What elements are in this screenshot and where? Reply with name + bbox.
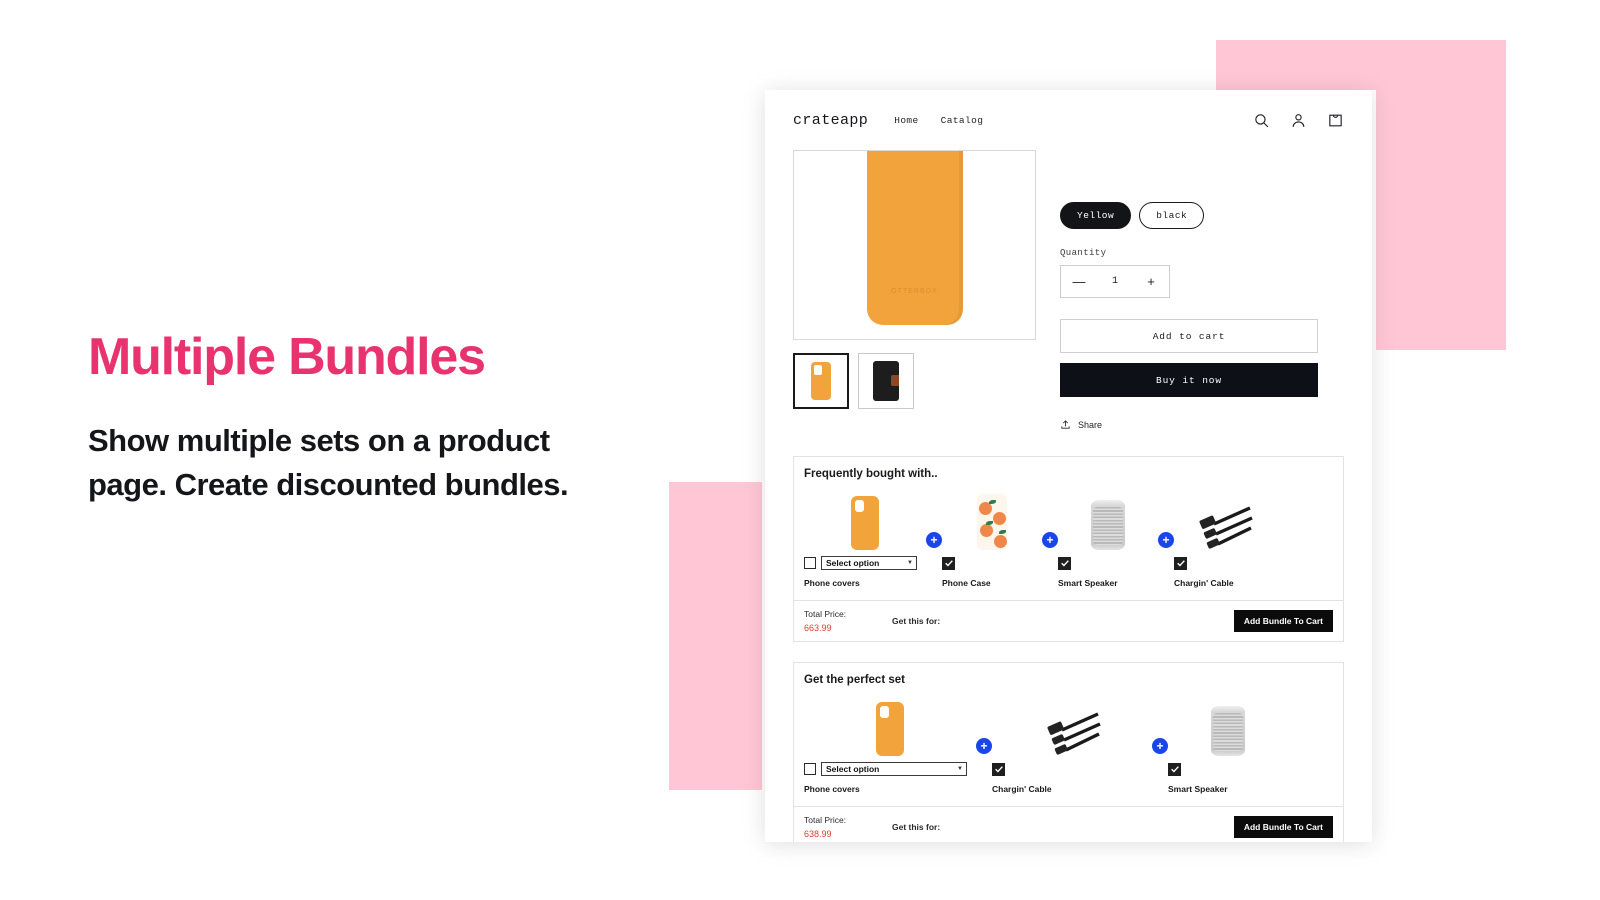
folio-tab bbox=[891, 375, 899, 386]
share-icon bbox=[1060, 419, 1071, 430]
bundle-1-item-1-image[interactable] bbox=[804, 492, 926, 550]
bundle-1-item-4-checkbox[interactable] bbox=[1174, 557, 1187, 570]
check-icon bbox=[1060, 558, 1070, 568]
bundle-1-plus-2: + bbox=[1042, 532, 1058, 588]
check-icon bbox=[1176, 558, 1186, 568]
patterned-case-art bbox=[977, 494, 1007, 550]
bundle-1-item-2-name: Phone Case bbox=[942, 578, 991, 588]
bundle-1-total-value: 663.99 bbox=[804, 623, 892, 633]
bundle-1-item-4-controls bbox=[1174, 555, 1187, 571]
product-main-image[interactable]: OTTERBOX bbox=[793, 150, 1036, 340]
thumbnail-2[interactable] bbox=[858, 353, 914, 409]
bundle-1-item-1-name: Phone covers bbox=[804, 578, 860, 588]
bundle-1-add-button[interactable]: Add Bundle To Cart bbox=[1234, 610, 1333, 632]
camera-cutout bbox=[814, 365, 822, 375]
bundle-2-item-2-name: Chargin' Cable bbox=[992, 784, 1052, 794]
plus-icon[interactable]: + bbox=[976, 738, 992, 754]
bundle-2-item-1-select[interactable]: Select option ▼ bbox=[821, 762, 967, 776]
account-icon[interactable] bbox=[1290, 112, 1307, 129]
check-icon bbox=[1170, 764, 1180, 774]
bundle-2-item-3-controls bbox=[1168, 761, 1181, 777]
search-icon[interactable] bbox=[1253, 112, 1270, 129]
bundle-1-item-2: Phone Case bbox=[942, 492, 1042, 588]
bundle-1-plus-3: + bbox=[1158, 532, 1174, 588]
nav-item-catalog[interactable]: Catalog bbox=[941, 115, 984, 126]
bundle-2-total-value: 638.99 bbox=[804, 829, 892, 839]
bundle-2-title: Get the perfect set bbox=[794, 663, 1343, 686]
quantity-value[interactable]: 1 bbox=[1097, 276, 1133, 287]
bundle-card-1: Frequently bought with.. Select option ▼ bbox=[793, 456, 1344, 642]
bundle-2-item-2-image[interactable] bbox=[992, 698, 1152, 756]
bundle-1-item-2-image[interactable] bbox=[942, 492, 1042, 550]
header-icons bbox=[1253, 112, 1344, 129]
otterbox-brandmark: OTTERBOX bbox=[891, 288, 938, 295]
storefront-window: crateapp Home Catalog bbox=[765, 90, 1372, 842]
pink-decoration-vertical bbox=[1376, 40, 1506, 350]
bundle-1-item-4-image[interactable] bbox=[1174, 492, 1274, 550]
bundle-1-item-2-controls bbox=[942, 555, 955, 571]
bundle-1-footer: Total Price: 663.99 Get this for: Add Bu… bbox=[794, 600, 1343, 641]
smart-speaker-art bbox=[1211, 706, 1245, 756]
product-gallery: OTTERBOX bbox=[793, 150, 1038, 430]
chevron-down-icon: ▼ bbox=[907, 560, 913, 566]
bundle-1-item-4: Chargin' Cable bbox=[1174, 492, 1274, 588]
bundle-2-item-3-checkbox[interactable] bbox=[1168, 763, 1181, 776]
bundle-1-total: Total Price: 663.99 bbox=[804, 609, 892, 633]
share-button[interactable]: Share bbox=[1060, 419, 1318, 430]
phone-cover-art bbox=[876, 702, 904, 756]
bundle-2-discount: Get this for: bbox=[892, 822, 1234, 832]
bundle-2-footer: Total Price: 638.99 Get this for: Add Bu… bbox=[794, 806, 1343, 842]
select-value: Select option bbox=[826, 764, 879, 774]
add-to-cart-button[interactable]: Add to cart bbox=[1060, 319, 1318, 353]
bundle-1-item-2-checkbox[interactable] bbox=[942, 557, 955, 570]
bundle-2-item-1-checkbox[interactable] bbox=[804, 763, 816, 775]
bundle-2-item-3: Smart Speaker bbox=[1168, 698, 1288, 794]
bundle-1-discount: Get this for: bbox=[892, 616, 1234, 626]
bundle-1-item-3-image[interactable] bbox=[1058, 492, 1158, 550]
variant-yellow[interactable]: Yellow bbox=[1060, 202, 1131, 229]
subheadline: Show multiple sets on a product page. Cr… bbox=[88, 419, 608, 507]
headline: Multiple Bundles bbox=[88, 330, 608, 385]
phone-case-art: OTTERBOX bbox=[867, 150, 963, 325]
bundle-2-plus-1: + bbox=[976, 738, 992, 794]
buy-it-now-button[interactable]: Buy it now bbox=[1060, 363, 1318, 397]
marketing-copy: Multiple Bundles Show multiple sets on a… bbox=[88, 330, 608, 507]
camera-cutout bbox=[880, 706, 889, 718]
bundle-card-2: Get the perfect set Select option ▼ bbox=[793, 662, 1344, 842]
bundle-1-item-3-name: Smart Speaker bbox=[1058, 578, 1118, 588]
bundle-2-item-2-checkbox[interactable] bbox=[992, 763, 1005, 776]
site-header: crateapp Home Catalog bbox=[765, 90, 1372, 150]
plus-icon[interactable]: + bbox=[1152, 738, 1168, 754]
bundle-2-total: Total Price: 638.99 bbox=[804, 815, 892, 839]
bundle-2-add-button[interactable]: Add Bundle To Cart bbox=[1234, 816, 1333, 838]
thumbnail-case-icon bbox=[811, 362, 831, 400]
bundle-2-item-1-name: Phone covers bbox=[804, 784, 860, 794]
nav-item-home[interactable]: Home bbox=[894, 115, 918, 126]
bundle-2-item-3-name: Smart Speaker bbox=[1168, 784, 1228, 794]
cart-icon[interactable] bbox=[1327, 112, 1344, 129]
plus-icon[interactable]: + bbox=[1042, 532, 1058, 548]
product-section: OTTERBOX bbox=[765, 150, 1372, 430]
select-value: Select option bbox=[826, 558, 879, 568]
bundle-1-item-1-controls: Select option ▼ bbox=[804, 555, 917, 571]
charging-cable-art bbox=[1042, 710, 1102, 756]
product-form: Yellow black Quantity — 1 + Add to cart … bbox=[1060, 150, 1318, 430]
slide-canvas: Multiple Bundles Show multiple sets on a… bbox=[0, 0, 1600, 900]
plus-icon[interactable]: + bbox=[1158, 532, 1174, 548]
bundle-2-plus-2: + bbox=[1152, 738, 1168, 794]
chevron-down-icon: ▼ bbox=[957, 766, 963, 772]
quantity-stepper: — 1 + bbox=[1060, 265, 1170, 298]
bundle-1-items: Select option ▼ Phone covers + bbox=[794, 480, 1343, 588]
phone-cover-art bbox=[851, 496, 879, 550]
bundle-1-item-1: Select option ▼ Phone covers bbox=[804, 492, 926, 588]
bundle-2-item-1-controls: Select option ▼ bbox=[804, 761, 967, 777]
bundle-1-total-label: Total Price: bbox=[804, 609, 892, 619]
bundle-2-item-3-image[interactable] bbox=[1168, 698, 1288, 756]
bundle-1-title: Frequently bought with.. bbox=[794, 457, 1343, 480]
bundle-1-item-1-select[interactable]: Select option ▼ bbox=[821, 556, 917, 570]
thumbnail-strip bbox=[793, 353, 1038, 409]
bundle-1-plus-1: + bbox=[926, 532, 942, 588]
check-icon bbox=[944, 558, 954, 568]
bundle-1-discount-label: Get this for: bbox=[892, 616, 1234, 626]
quantity-increase[interactable]: + bbox=[1133, 275, 1169, 288]
bundle-2-item-1: Select option ▼ Phone covers bbox=[804, 698, 976, 794]
bundle-2-item-2-controls bbox=[992, 761, 1005, 777]
bundle-1-item-3-controls bbox=[1058, 555, 1071, 571]
bundle-2-total-label: Total Price: bbox=[804, 815, 892, 825]
bundle-2-item-2: Chargin' Cable bbox=[992, 698, 1152, 794]
charging-cable-art bbox=[1194, 504, 1254, 550]
smart-speaker-art bbox=[1091, 500, 1125, 550]
bundle-1-item-3: Smart Speaker bbox=[1058, 492, 1158, 588]
plus-icon[interactable]: + bbox=[926, 532, 942, 548]
variant-black[interactable]: black bbox=[1139, 202, 1204, 229]
thumbnail-folio-icon bbox=[873, 361, 899, 401]
variant-swatches: Yellow black bbox=[1060, 202, 1318, 229]
bundle-2-discount-label: Get this for: bbox=[892, 822, 1234, 832]
quantity-label: Quantity bbox=[1060, 248, 1318, 258]
bundle-1-item-4-name: Chargin' Cable bbox=[1174, 578, 1234, 588]
check-icon bbox=[994, 764, 1004, 774]
bundle-2-items: Select option ▼ Phone covers + bbox=[794, 686, 1343, 794]
camera-cutout bbox=[855, 500, 864, 512]
bundle-1-item-1-checkbox[interactable] bbox=[804, 557, 816, 569]
thumbnail-1[interactable] bbox=[793, 353, 849, 409]
quantity-decrease[interactable]: — bbox=[1061, 275, 1097, 288]
bundle-2-item-1-image[interactable] bbox=[804, 698, 976, 756]
site-logo[interactable]: crateapp bbox=[793, 112, 868, 129]
main-nav: Home Catalog bbox=[894, 115, 983, 126]
share-label: Share bbox=[1078, 420, 1102, 430]
pink-decoration-left bbox=[669, 482, 762, 790]
bundle-1-item-3-checkbox[interactable] bbox=[1058, 557, 1071, 570]
